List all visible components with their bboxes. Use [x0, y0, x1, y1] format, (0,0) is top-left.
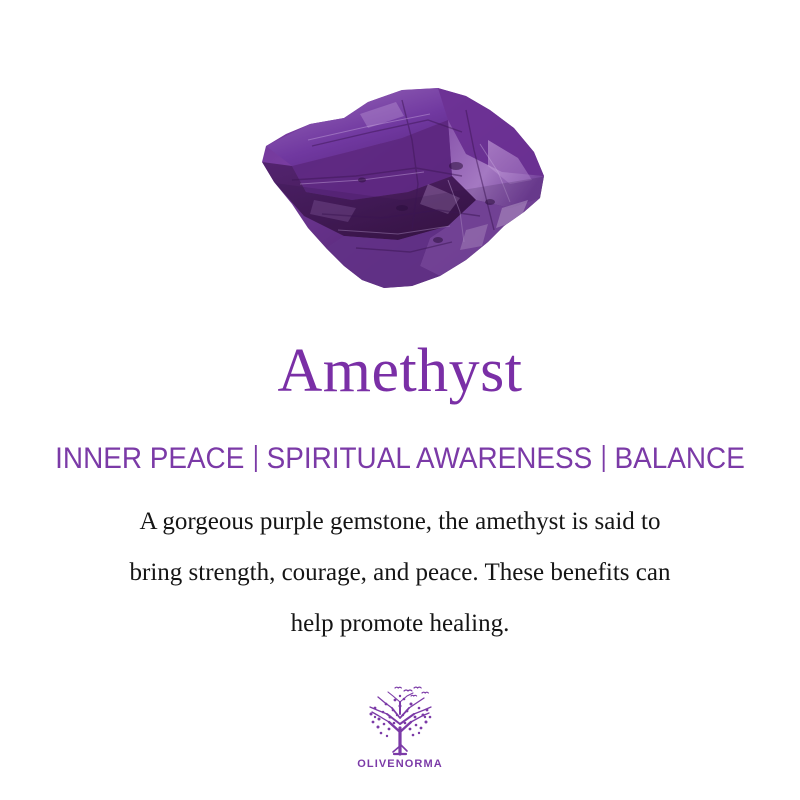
- keyword-balance: BALANCE: [615, 442, 745, 475]
- keyword-separator: [602, 445, 604, 472]
- tree-of-life-icon: [359, 684, 441, 756]
- brand-name: OLIVENORMA: [335, 758, 465, 770]
- keyword-list: INNER PEACESPIRITUAL AWARENESSBALANCE: [28, 441, 772, 477]
- amethyst-stone-image: [252, 80, 548, 295]
- brand-logo: OLIVENORMA: [335, 684, 465, 770]
- page-title: Amethyst: [0, 336, 800, 406]
- keyword-separator: [255, 445, 257, 472]
- keyword-inner-peace: INNER PEACE: [55, 442, 244, 475]
- amethyst-product-card: Amethyst INNER PEACESPIRITUAL AWARENESSB…: [0, 0, 800, 800]
- product-image-area: [0, 0, 800, 320]
- description-line: bring strength, courage, and peace. Thes…: [50, 547, 750, 598]
- description-line: help promote healing.: [50, 598, 750, 649]
- amethyst-stone-illustration: [252, 80, 548, 295]
- birds-icon: [395, 687, 428, 696]
- product-description: A gorgeous purple gemstone, the amethyst…: [50, 496, 750, 649]
- keyword-spiritual-awareness: SPIRITUAL AWARENESS: [267, 442, 593, 475]
- description-line: A gorgeous purple gemstone, the amethyst…: [50, 496, 750, 547]
